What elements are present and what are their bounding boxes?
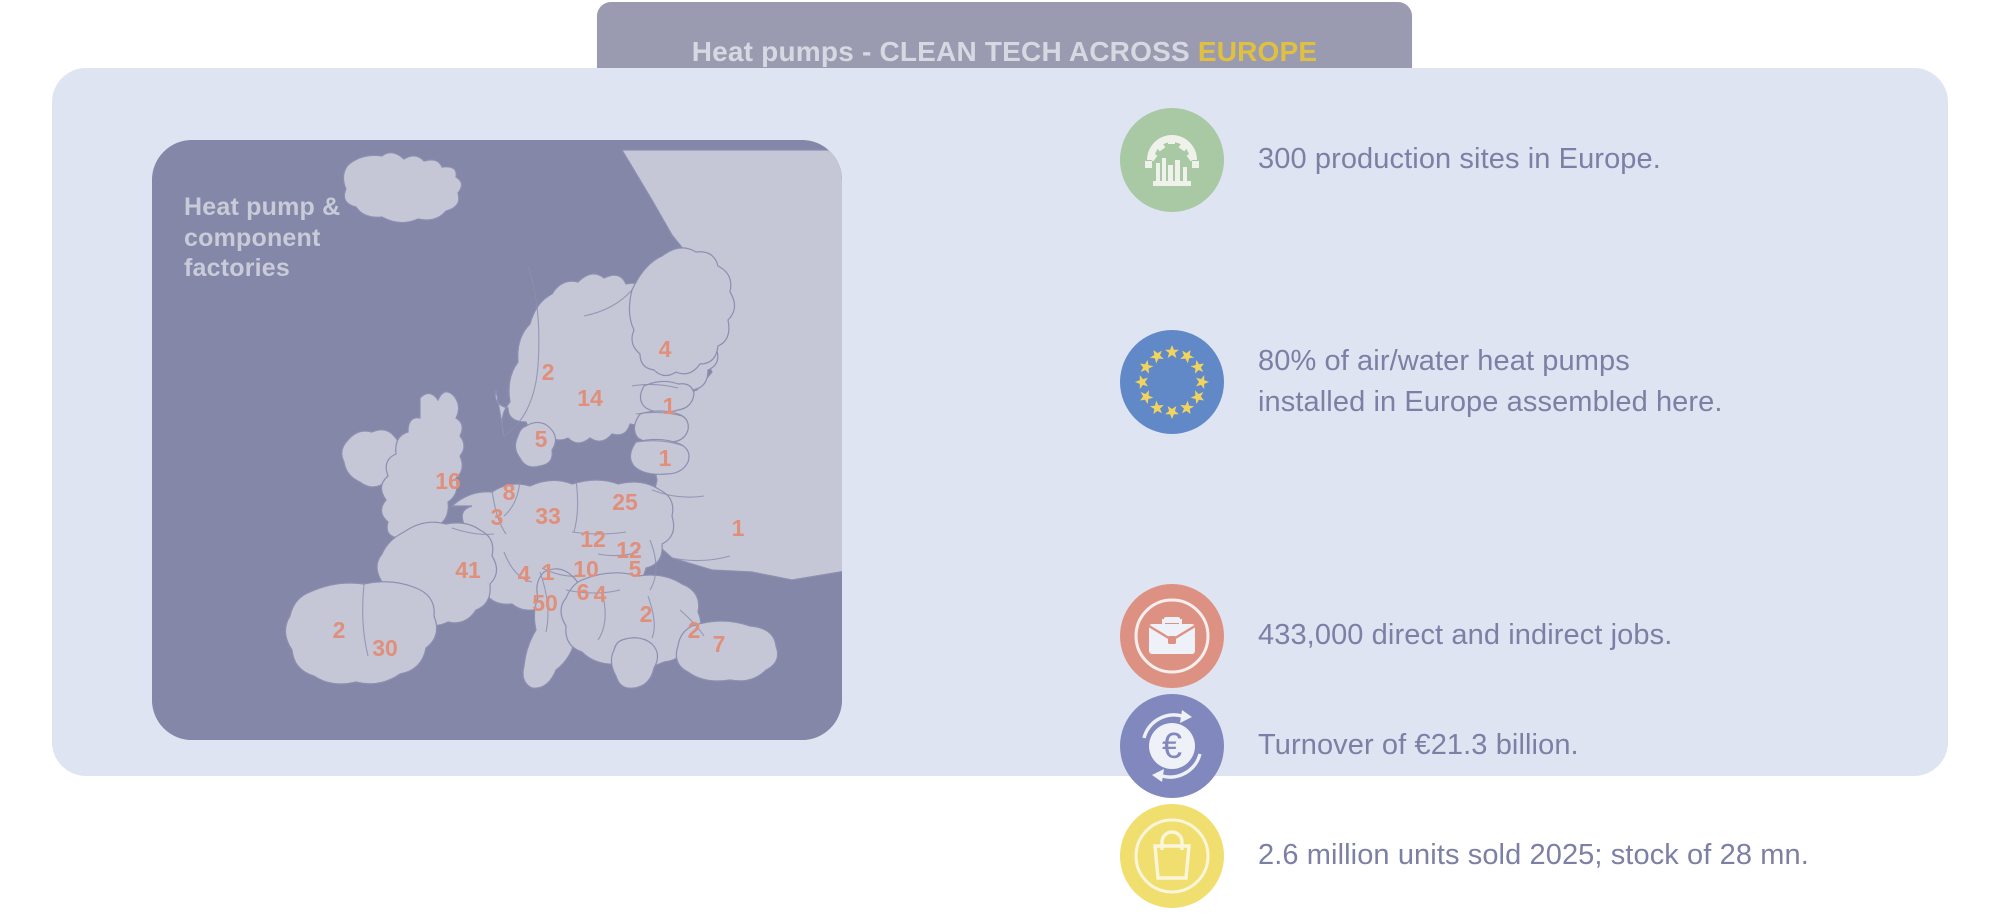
marker-turkey: 7	[713, 631, 726, 657]
fact-line: installed in Europe assembled here.	[1258, 382, 1723, 423]
map-caption-line-2: component	[184, 223, 340, 254]
marker-netherlands: 8	[503, 479, 516, 505]
marker-united-kingdom: 16	[435, 468, 461, 494]
fact-eu-share-text: 80% of air/water heat pumps installed in…	[1258, 341, 1723, 423]
shopping-bag-icon	[1120, 804, 1224, 908]
svg-text:€: €	[1162, 725, 1182, 766]
fact-jobs-text: 433,000 direct and indirect jobs.	[1258, 615, 1672, 656]
marker-hungary: 5	[629, 556, 642, 582]
marker-portugal: 2	[333, 617, 346, 643]
map-caption-line-1: Heat pump &	[184, 192, 340, 223]
fact-turnover: € Turnover of €21.3 billion.	[1120, 694, 1900, 798]
marker-ukraine: 1	[732, 515, 745, 541]
marker-switzerland: 4	[518, 561, 531, 587]
fact-line: Turnover of €21.3 billion.	[1258, 725, 1579, 766]
title-highlight: EUROPE	[1198, 36, 1317, 67]
marker-finland: 4	[659, 336, 672, 362]
marker-denmark: 5	[535, 426, 548, 452]
content-panel: 2 14 4 1 1 5 16 8 3 33 25 12 12 1	[52, 68, 1948, 776]
fact-production-sites: 300 production sites in Europe.	[1120, 108, 1900, 212]
marker-bulgaria: 2	[688, 617, 701, 643]
briefcase-icon	[1120, 584, 1224, 688]
page-title: Heat pumps - CLEAN TECH ACROSS EUROPE	[692, 38, 1318, 66]
marker-estonia: 1	[663, 393, 676, 419]
fact-units-sold: 2.6 million units sold 2025; stock of 28…	[1120, 804, 1900, 908]
marker-czechia: 12	[580, 526, 606, 552]
marker-poland: 25	[612, 489, 638, 515]
marker-spain: 30	[372, 635, 398, 661]
marker-germany: 33	[535, 503, 561, 529]
fact-line: 2.6 million units sold 2025; stock of 28…	[1258, 835, 1809, 876]
map-caption: Heat pump & component factories	[184, 192, 340, 284]
marker-serbia: 2	[640, 601, 653, 627]
fact-jobs: 433,000 direct and indirect jobs.	[1120, 584, 1900, 688]
marker-italy: 50	[532, 590, 558, 616]
marker-france: 41	[455, 557, 481, 583]
europe-map-card[interactable]: 2 14 4 1 1 5 16 8 3 33 25 12 12 1	[152, 140, 842, 740]
facts-list: 300 production sites in Europe.	[1120, 108, 1900, 914]
map-caption-line-3: factories	[184, 253, 340, 284]
marker-norway: 2	[542, 359, 555, 385]
fact-units-sold-text: 2.6 million units sold 2025; stock of 28…	[1258, 835, 1809, 876]
fact-line: 80% of air/water heat pumps	[1258, 341, 1723, 382]
factory-gear-icon	[1120, 108, 1224, 212]
marker-liechtenstein: 1	[542, 559, 555, 585]
eu-flag-icon	[1120, 330, 1224, 434]
title-prefix: Heat pumps - CLEAN TECH ACROSS	[692, 36, 1198, 67]
fact-turnover-text: Turnover of €21.3 billion.	[1258, 725, 1579, 766]
fact-line: 433,000 direct and indirect jobs.	[1258, 615, 1672, 656]
marker-belgium: 3	[491, 504, 504, 530]
fact-line: 300 production sites in Europe.	[1258, 139, 1661, 180]
marker-slovenia: 6	[577, 579, 590, 605]
marker-lithuania: 1	[659, 445, 672, 471]
euro-cycle-icon: €	[1120, 694, 1224, 798]
marker-croatia: 4	[594, 581, 607, 607]
infographic-root: Heat pumps - CLEAN TECH ACROSS EUROPE	[0, 0, 2000, 839]
fact-eu-share: 80% of air/water heat pumps installed in…	[1120, 330, 1900, 434]
fact-production-sites-text: 300 production sites in Europe.	[1258, 139, 1661, 180]
marker-sweden: 14	[577, 385, 603, 411]
